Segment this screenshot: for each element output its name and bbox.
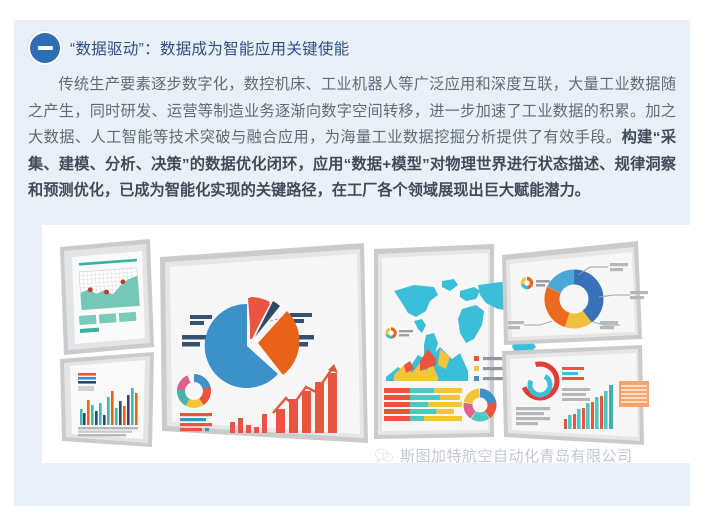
minus-bar — [38, 46, 53, 50]
article-panel: “数据驱动”：数据成为智能应用关键使能 传统生产要素逐步数字化，数控机床、工业机… — [14, 20, 690, 506]
page-root: “数据驱动”：数据成为智能应用关键使能 传统生产要素逐步数字化，数控机床、工业机… — [0, 0, 707, 518]
area-chart-panel — [60, 239, 154, 355]
progress-bars-panel — [502, 345, 649, 445]
minus-circle-icon[interactable] — [30, 33, 60, 63]
dashboard-illustration — [42, 225, 690, 463]
article-paragraph: 传统生产要素逐步数字化，数控机床、工业机器人等广泛应用和深度互联，大量工业数据随… — [28, 72, 676, 205]
article-body: 传统生产要素逐步数字化，数控机床、工业机器人等广泛应用和深度互联，大量工业数据随… — [28, 72, 676, 205]
page-title: “数据驱动”：数据成为智能应用关键使能 — [70, 37, 350, 59]
figure-card — [42, 225, 690, 463]
pie-chart-panel — [160, 243, 368, 443]
orange-lines-block — [619, 381, 649, 407]
horizontal-stacked-bars — [384, 388, 462, 421]
article-header: “数据驱动”：数据成为智能应用关键使能 — [30, 32, 680, 64]
donut-chart-panel — [502, 241, 648, 345]
bar-chart-panel — [60, 352, 154, 447]
paragraph-plain-text: 传统生产要素逐步数字化，数控机床、工业机器人等广泛应用和深度互联，大量工业数据随… — [28, 76, 676, 146]
